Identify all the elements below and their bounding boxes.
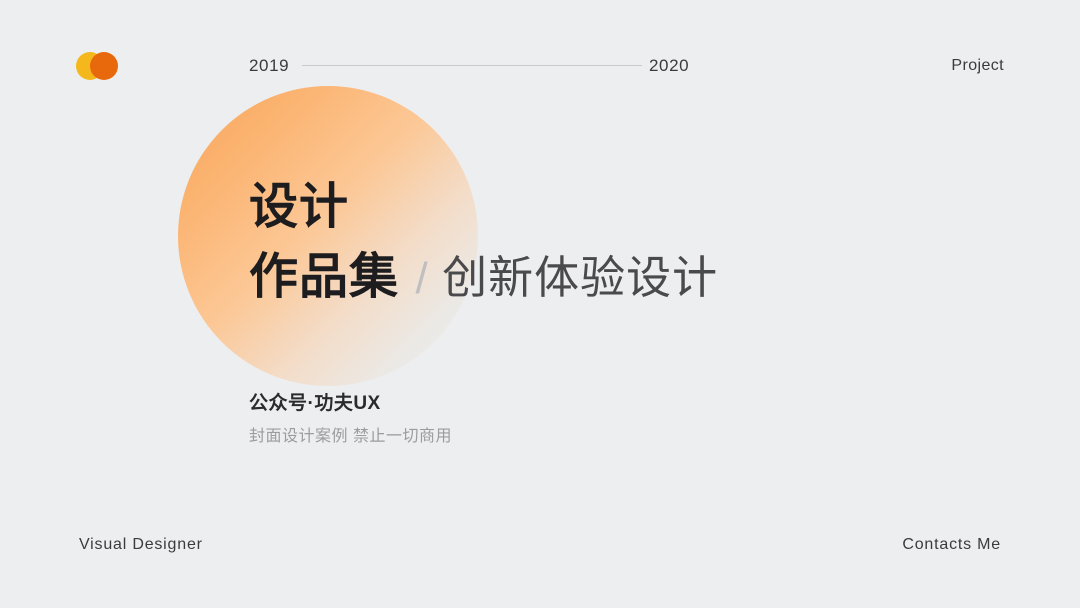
subtitle-usage-note: 封面设计案例 禁止一切商用 xyxy=(249,424,452,450)
title-separator: / xyxy=(403,254,437,303)
title-line-1-strong: 设计 xyxy=(249,180,349,234)
title-line-1: 设计 xyxy=(249,178,718,248)
year-start-label: 2019 xyxy=(249,52,289,80)
footer-role-label: Visual Designer xyxy=(79,533,203,557)
page-title: 设计 作品集 / 创新体验设计 xyxy=(249,178,718,318)
subtitle-block: 公众号·功夫UX 封面设计案例 禁止一切商用 xyxy=(249,390,452,450)
title-line-2-light: 创新体验设计 xyxy=(442,252,718,303)
title-line-2-strong: 作品集 xyxy=(249,250,399,304)
year-connector-line xyxy=(302,65,642,66)
slide-header: 2019 2020 Project xyxy=(0,52,1080,80)
year-end-label: 2020 xyxy=(649,52,689,80)
title-line-2: 作品集 / 创新体验设计 xyxy=(249,248,718,318)
subtitle-account-name: 公众号·功夫UX xyxy=(249,390,452,418)
footer-contacts-link[interactable]: Contacts Me xyxy=(902,533,1001,557)
project-label: Project xyxy=(951,52,1004,80)
cover-slide: 2019 2020 Project 设计 作品集 / 创新体验设计 公众号·功夫… xyxy=(0,0,1080,608)
